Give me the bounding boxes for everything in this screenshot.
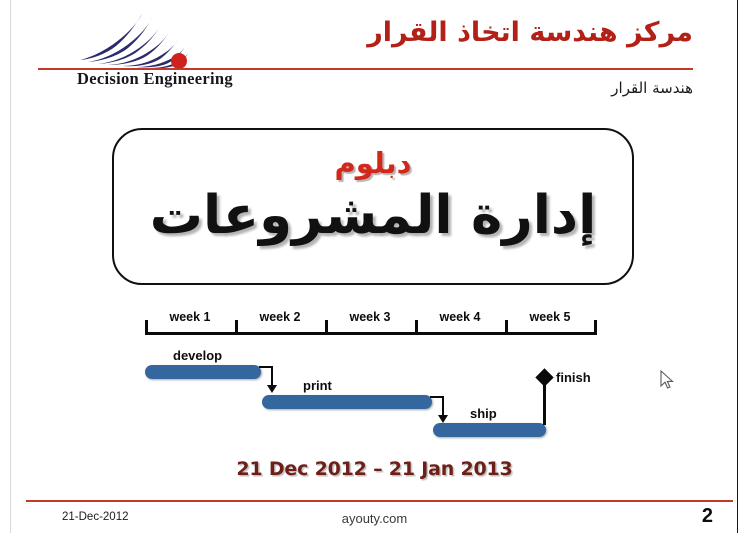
milestone-stem (543, 385, 546, 425)
task-label-develop: develop (173, 348, 222, 363)
axis-baseline (145, 332, 597, 335)
course-date-range: 21 Dec 2012 – 21 Jan 2013 (0, 458, 749, 480)
slide-left-border (10, 0, 11, 533)
diploma-label: دبلوم (114, 146, 632, 180)
task-bar-print[interactable] (262, 395, 432, 409)
task-label-ship: ship (470, 406, 497, 421)
task-bar-develop[interactable] (145, 365, 261, 379)
gantt-chart: week 1 week 2 week 3 week 4 week 5 devel… (140, 300, 610, 445)
gantt-time-axis: week 1 week 2 week 3 week 4 week 5 (145, 308, 597, 334)
axis-label-week-3: week 3 (325, 310, 415, 324)
dependency-arrow-icon (267, 385, 277, 393)
slide-canvas: Decision Engineering مركز هندسة اتخاذ ال… (0, 0, 749, 533)
task-label-print: print (303, 378, 332, 393)
brand-logo: Decision Engineering (60, 12, 250, 92)
footer-divider-rule (26, 500, 733, 502)
footer-page-number: 2 (702, 505, 713, 528)
course-name-label: إدارة المشروعات (114, 188, 632, 244)
footer-website: ayouty.com (0, 511, 749, 526)
dependency-link (271, 366, 273, 387)
axis-label-week-5: week 5 (505, 310, 595, 324)
mouse-pointer-icon (660, 370, 674, 390)
header-subtitle-arabic: هندسة القرار (611, 79, 693, 97)
dependency-link (442, 396, 444, 417)
milestone-diamond-icon[interactable] (535, 368, 553, 386)
slide-right-border (737, 0, 738, 533)
dependency-arrow-icon (438, 415, 448, 423)
header-divider-rule (38, 68, 693, 70)
axis-label-week-4: week 4 (415, 310, 505, 324)
task-bar-ship[interactable] (433, 423, 546, 437)
header-title-arabic: مركز هندسة اتخاذ القرار (367, 17, 693, 48)
milestone-label-finish: finish (556, 370, 591, 385)
axis-label-week-2: week 2 (235, 310, 325, 324)
course-title-box: دبلوم إدارة المشروعات (112, 128, 634, 285)
brand-logo-text: Decision Engineering (60, 69, 250, 89)
axis-label-week-1: week 1 (145, 310, 235, 324)
fan-wing-logo-icon (78, 12, 208, 70)
